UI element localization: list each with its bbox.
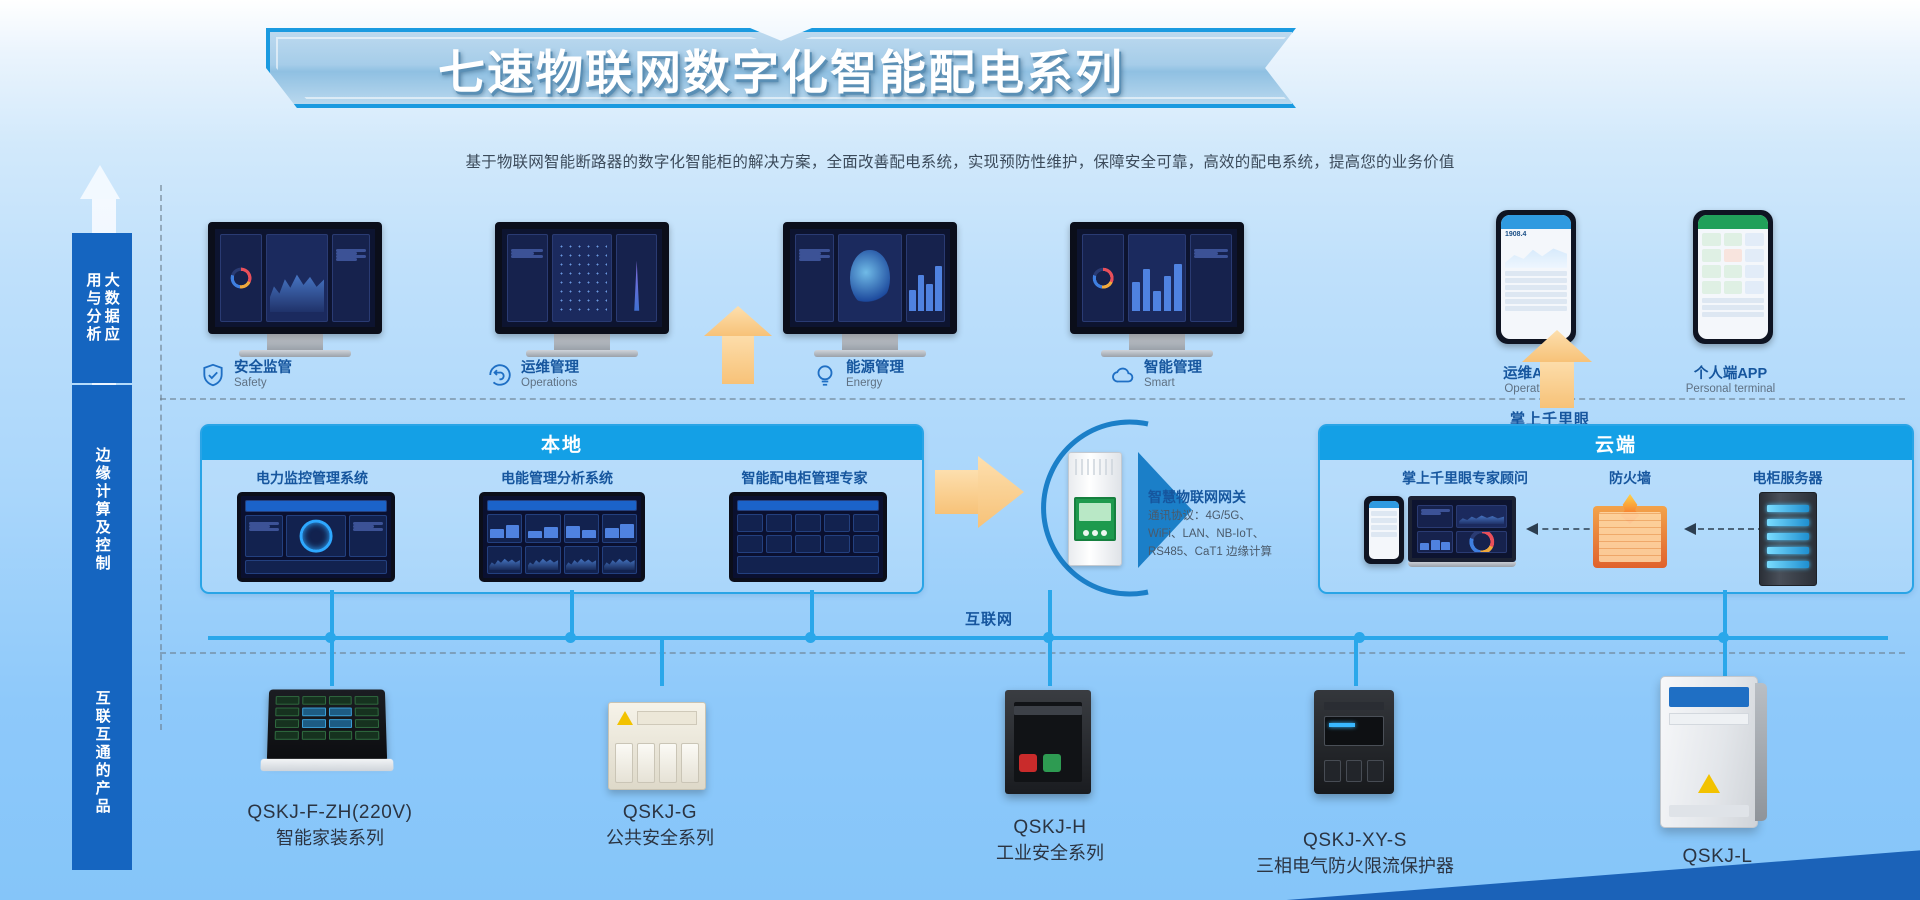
connector-node-1: [565, 632, 576, 643]
cloud-laptop-screen: [1408, 496, 1516, 562]
caption-smart-en: Smart: [1144, 377, 1202, 391]
tile-globe: [838, 234, 901, 322]
device-label-strip: [1324, 702, 1384, 710]
cloud-panel-title: 云端: [1320, 426, 1912, 460]
caption-energy-zh: 能源管理: [846, 360, 904, 377]
monitor-stand: [1129, 334, 1185, 350]
product-name-0: 智能家装系列: [205, 826, 455, 850]
phone-list: [1505, 271, 1567, 311]
cloud-refresh-icon: [487, 362, 513, 388]
flow-arrow-shaft-phones: [1540, 358, 1574, 408]
cloud-firewall: [1593, 506, 1667, 568]
product-device-qskj-l: [1660, 676, 1758, 828]
cloud-phone: [1364, 496, 1404, 564]
area-chart-icon: [270, 265, 325, 312]
connector-gateway: [1048, 590, 1052, 638]
local-panel-body: 电力监控管理系统 电能管理分析系统: [202, 460, 922, 592]
local-system-0-label: 电力监控管理系统: [212, 468, 412, 488]
device-label-strip: [1669, 713, 1749, 725]
ui-cell: [824, 514, 850, 532]
server-led-1: [1767, 519, 1809, 526]
phone-list: [1702, 298, 1764, 317]
bar-chart-icon: [528, 522, 557, 538]
list-lines-icon: [1421, 509, 1450, 515]
bar-chart-icon: [1420, 537, 1450, 549]
device-button-red[interactable]: [1019, 754, 1037, 772]
caption-safety-en: Safety: [234, 377, 292, 391]
phone-metric: 1908.4: [1501, 229, 1571, 240]
caption-smart-zh: 智能管理: [1144, 360, 1202, 377]
gateway-description: 通讯协议：4G/5G、 WiFi、LAN、NB-IoT、 RS485、CaT1 …: [1148, 508, 1313, 561]
area-chart-icon: [528, 556, 559, 571]
product-name-3: 三相电气防火限流保护器: [1230, 854, 1480, 878]
ui-grid: [245, 500, 387, 574]
divider-row-1: [160, 398, 1905, 400]
connector-product-4: [1723, 636, 1727, 676]
device-label-strip: [1014, 706, 1082, 715]
dashboard-tiles: [507, 234, 657, 322]
warning-triangle-icon: [617, 711, 633, 725]
rail-item-big-data-col2: 用与分析: [84, 272, 101, 344]
monitor-base: [1101, 350, 1213, 357]
list-lines-icon: [511, 249, 543, 258]
gateway-buttons[interactable]: [1080, 530, 1110, 536]
monitor-base: [526, 350, 638, 357]
list-lines-icon: [1194, 249, 1227, 258]
network-dots-icon: [557, 242, 606, 314]
phone-status-bar: [1698, 215, 1768, 229]
caption-personal-app: 个人端APP Personal terminal: [1638, 362, 1823, 395]
list-lines-icon: [336, 249, 367, 261]
connector-product-0: [330, 636, 334, 686]
cloud-icon: [1110, 362, 1136, 388]
gateway-title: 智慧物联网网关: [1148, 487, 1246, 507]
device-ui: [274, 696, 380, 755]
monitor-energy: [783, 222, 957, 357]
monitor-stand: [842, 334, 898, 350]
tile-area: [266, 234, 327, 322]
cloud-server: [1759, 492, 1817, 586]
ui-footer-bar: [245, 560, 387, 574]
product-code-0: QSKJ-F-ZH(220V): [205, 800, 455, 826]
cloud-panel-body: 掌上千里眼专家顾问: [1320, 460, 1912, 592]
tile-lines: [795, 234, 834, 322]
bar-chart-icon: [1132, 259, 1182, 311]
shield-check-icon: [200, 362, 226, 388]
caption-operations: 运维管理 Operations: [487, 360, 579, 390]
monitor-smart: [1070, 222, 1244, 357]
monitor-smart-screen: [1070, 222, 1244, 334]
tile-donut: [1456, 531, 1507, 554]
tile-area: [1456, 505, 1507, 528]
device-display: [1324, 716, 1384, 746]
cloud-laptop-base: [1408, 562, 1516, 567]
connector-local-1: [570, 590, 574, 638]
product-device-qskj-f-zh: [267, 689, 387, 761]
tile-hump: [616, 234, 657, 322]
ui-cell: [349, 515, 387, 557]
tile-bars: [1128, 234, 1186, 322]
divider-vertical-left: [160, 185, 162, 730]
ui-cell: [795, 514, 821, 532]
title-banner: 七速物联网数字化智能配电系列: [266, 28, 1296, 108]
ui-cell: [564, 514, 599, 543]
arrow-left-icon-2: [1682, 522, 1698, 536]
rail-item-edge-computing: 边缘计算及控制: [72, 385, 132, 635]
tile-bars: [1417, 531, 1453, 554]
dashboard-tiles: [1082, 234, 1232, 322]
caption-operations-zh: 运维管理: [521, 360, 579, 377]
phone-personal-screen: [1698, 215, 1768, 339]
caption-energy-en: Energy: [846, 377, 904, 391]
connector-product-1: [660, 636, 664, 686]
caption-energy-text: 能源管理 Energy: [846, 360, 904, 390]
monitor-base: [814, 350, 926, 357]
flow-arrow-shaft-local: [722, 332, 754, 384]
connector-dashed-left: [1532, 528, 1600, 530]
area-chart-icon: [566, 556, 597, 571]
bar-chart-icon: [909, 259, 942, 311]
server-led-2: [1767, 533, 1809, 540]
tile-list: [332, 234, 370, 322]
dashboard-tiles: [220, 234, 370, 322]
tile-lines: [1417, 505, 1453, 528]
monitor-energy-screen: [783, 222, 957, 334]
device-label-strip: [637, 711, 697, 725]
ui-header-bar: [737, 500, 879, 511]
list-lines-icon: [353, 522, 383, 531]
rail-item-edge-computing-label: 边缘计算及控制: [93, 447, 110, 573]
ui-cell: [245, 515, 283, 557]
product-code-3: QSKJ-XY-S: [1230, 828, 1480, 854]
bar-chart-icon: [605, 522, 634, 538]
phone-app-grid: [1702, 233, 1764, 294]
product-device-qskj-g: [608, 702, 706, 790]
flow-arrow-head-gateway: [978, 456, 1024, 528]
local-system-2-label: 智能配电柜管理专家: [692, 468, 917, 488]
product-name-1: 公共安全系列: [555, 826, 765, 850]
tile-donut: [220, 234, 262, 322]
tile-lines: [1190, 234, 1232, 322]
caption-operations-text: 运维管理 Operations: [521, 360, 579, 390]
monitor-stand: [554, 334, 610, 350]
connector-node-2: [805, 632, 816, 643]
caption-smart: 智能管理 Smart: [1110, 360, 1202, 390]
divider-row-2: [160, 652, 1905, 654]
area-chart-icon: [489, 556, 520, 571]
tile-lines: [507, 234, 548, 322]
gateway-vents: [1075, 459, 1115, 475]
product-label-qskj-f-zh: QSKJ-F-ZH(220V) 智能家装系列: [205, 800, 455, 850]
caption-safety: 安全监管 Safety: [200, 360, 292, 390]
connector-product-3: [1354, 636, 1358, 686]
caption-personal-app-en: Personal terminal: [1638, 383, 1823, 395]
caption-smart-text: 智能管理 Smart: [1144, 360, 1202, 390]
ui-cell: [525, 514, 560, 543]
cloud-item-2-label: 电柜服务器: [1720, 468, 1855, 488]
product-label-qskj-xy-s: QSKJ-XY-S 三相电气防火限流保护器: [1230, 828, 1480, 878]
donut-chart-icon: [231, 268, 252, 289]
ui-cell: [487, 546, 522, 575]
warning-triangle-icon: [1698, 774, 1720, 793]
device-side-panel: [1755, 683, 1767, 821]
device-base: [260, 759, 393, 771]
server-led-3: [1767, 547, 1809, 554]
tile-network: [552, 234, 613, 322]
connector-local-0: [330, 590, 334, 638]
lightbulb-icon: [812, 362, 838, 388]
ui-cell: [487, 514, 522, 543]
tile-donut: [1082, 234, 1124, 322]
ui-cell-ring: [286, 515, 346, 557]
caption-operations-app: 运维APP Operations: [1440, 362, 1625, 395]
phone-status-bar: [1369, 501, 1399, 508]
cloud-item-0-label: 掌上千里眼专家顾问: [1350, 468, 1580, 488]
cloud-panel: 云端 掌上千里眼专家顾问: [1318, 424, 1914, 594]
device-button-green[interactable]: [1043, 754, 1061, 772]
ui-cell: [853, 514, 879, 532]
donut-chart-icon: [1469, 531, 1494, 554]
distribution-chart-icon: [621, 257, 652, 310]
monitor-stand: [267, 334, 323, 350]
phone-list: [1371, 511, 1397, 537]
bar-chart-icon: [490, 522, 519, 538]
ui-grid: [487, 500, 637, 574]
monitor-safety: [208, 222, 382, 357]
ui-cell: [824, 535, 850, 553]
monitor-operations-screen: [495, 222, 669, 334]
ui-footer-bar: [737, 556, 879, 574]
ui-header-bar: [245, 500, 387, 512]
gateway-lcd: [1079, 503, 1111, 521]
caption-operations-app-zh: 运维APP: [1440, 362, 1625, 383]
local-system-1-screen: [479, 492, 645, 582]
caption-safety-text: 安全监管 Safety: [234, 360, 292, 390]
device-poles: [615, 743, 699, 783]
ui-cell: [853, 535, 879, 553]
cloud-laptop: [1408, 496, 1516, 567]
product-label-qskj-g: QSKJ-G 公共安全系列: [555, 800, 765, 850]
gauge-ring-icon: [300, 520, 333, 553]
device-knobs[interactable]: [1324, 760, 1384, 782]
connector-cloud: [1723, 590, 1727, 638]
dashboard-tiles: [795, 234, 945, 322]
local-panel-title: 本地: [202, 426, 922, 460]
ui-cell: [602, 514, 637, 543]
ui-cell: [564, 546, 599, 575]
bar-chart-icon: [566, 522, 595, 538]
ui-grid: [737, 500, 879, 574]
cloud-item-1-label: 防火墙: [1570, 468, 1690, 488]
ui-cell: [766, 535, 792, 553]
phone-operations-app: 1908.4: [1496, 210, 1576, 344]
ui-cell: [737, 514, 763, 532]
gateway-desc-line-0: 通讯协议：4G/5G、: [1148, 508, 1313, 526]
area-chart-icon: [1459, 513, 1504, 524]
product-device-qskj-xy-s: [1314, 690, 1394, 794]
flow-arrow-head-local: [704, 306, 772, 336]
connector-dashed-right: [1688, 528, 1764, 530]
gateway-screen: [1074, 497, 1116, 541]
local-system-0-screen: [237, 492, 395, 582]
dashboard-tiles: [1417, 505, 1507, 553]
caption-safety-zh: 安全监管: [234, 360, 292, 377]
phone-operations-screen: 1908.4: [1501, 215, 1571, 339]
device-brand-bar: [1669, 687, 1749, 707]
arrow-left-icon: [1524, 522, 1540, 536]
ui-cell: [766, 514, 792, 532]
product-device-qskj-h: [1005, 690, 1091, 794]
product-name-2: 工业安全系列: [955, 841, 1145, 865]
connector-local-2: [810, 590, 814, 638]
monitor-operations: [495, 222, 669, 357]
page-title: 七速物联网数字化智能配电系列: [266, 28, 1296, 108]
donut-chart-icon: [1093, 268, 1114, 289]
rail-item-interconnected: 互联互通的产品: [72, 635, 132, 870]
local-system-1-label: 电能管理分析系统: [452, 468, 662, 488]
monitor-base: [239, 350, 351, 357]
product-label-qskj-h: QSKJ-H 工业安全系列: [955, 815, 1145, 865]
local-panel: 本地 电力监控管理系统 电能管理分析系统: [200, 424, 924, 594]
gateway-device: [1068, 452, 1122, 566]
rail-item-interconnected-label: 互联互通的产品: [93, 690, 110, 816]
server-led-4: [1767, 561, 1809, 568]
internet-label: 互联网: [965, 608, 1013, 629]
connector-product-2: [1048, 636, 1052, 686]
monitor-safety-screen: [208, 222, 382, 334]
cloud-phone-screen: [1369, 501, 1399, 559]
caption-operations-app-en: Operations: [1440, 383, 1625, 395]
tile-bars: [906, 234, 945, 322]
gateway-desc-line-1: WiFi、LAN、NB-IoT、: [1148, 526, 1313, 544]
ui-cell: [525, 546, 560, 575]
globe-icon: [850, 250, 889, 305]
caption-personal-app-zh: 个人端APP: [1638, 362, 1823, 383]
rail-item-big-data: 用与分析 大数据应: [72, 233, 132, 383]
ui-cell: [602, 546, 637, 575]
ui-cell: [737, 535, 763, 553]
rail-item-big-data-col1: 大数据应: [103, 272, 120, 344]
diagram-canvas: 七速物联网数字化智能配电系列 基于物联网智能断路器的数字化智能柜的解决方案，全面…: [0, 0, 1920, 900]
area-chart-icon: [604, 556, 635, 571]
brick-wall-icon: [1599, 512, 1661, 562]
device-footer-strip: [1669, 805, 1749, 817]
server-led-0: [1767, 505, 1809, 512]
phone-line-chart-icon: [1505, 242, 1567, 268]
phone-personal-app: [1693, 210, 1773, 344]
ui-header-bar: [487, 500, 637, 511]
caption-operations-en: Operations: [521, 377, 579, 391]
phone-status-bar: [1501, 215, 1571, 229]
product-code-2: QSKJ-H: [955, 815, 1145, 841]
caption-energy: 能源管理 Energy: [812, 360, 904, 390]
local-system-2-screen: [729, 492, 887, 582]
list-lines-icon: [799, 249, 830, 261]
product-code-1: QSKJ-G: [555, 800, 765, 826]
page-subtitle: 基于物联网智能断路器的数字化智能柜的解决方案，全面改善配电系统，实现预防性维护，…: [0, 150, 1920, 172]
ui-cell: [795, 535, 821, 553]
gateway-desc-line-2: RS485、CaT1 边缘计算: [1148, 544, 1313, 562]
left-rail: 用与分析 大数据应 边缘计算及控制 互联互通的产品: [84, 195, 124, 735]
list-lines-icon: [249, 522, 279, 531]
